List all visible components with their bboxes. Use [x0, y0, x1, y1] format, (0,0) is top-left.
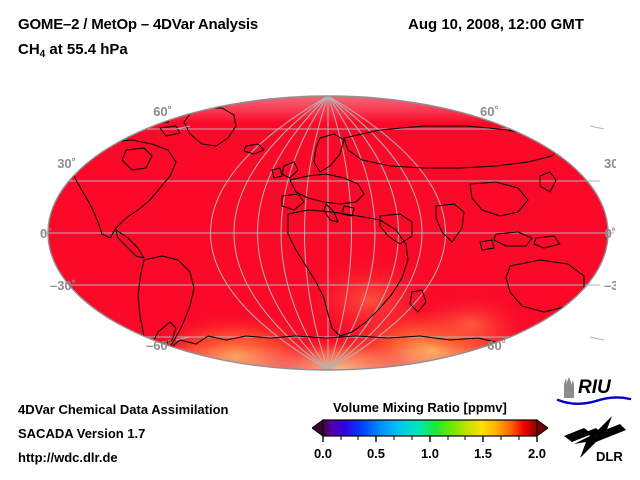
footer-line-version: SACADA Version 1.7: [18, 426, 145, 441]
riu-logo: RIU: [556, 376, 632, 406]
colorbar-tick-1: 0.5: [367, 446, 385, 461]
colorbar-title: Volume Mixing Ratio [ppmv]: [333, 400, 507, 415]
lat-label-right-30: 30˚: [604, 156, 616, 171]
colorbar-tick-4: 2.0: [528, 446, 546, 461]
lat-label-left-30: 30˚: [57, 156, 76, 171]
dlr-wordmark: DLR: [596, 449, 623, 464]
footer-line-assimilation: 4DVar Chemical Data Assimilation: [18, 402, 229, 417]
species-subtitle: CH4 at 55.4 hPa: [18, 41, 128, 58]
colorbar-tick-0: 0.0: [314, 446, 332, 461]
riu-wave-icon: [558, 397, 630, 403]
colorbar-gradient: [323, 420, 537, 436]
lat-label-left-m30: –30˚: [50, 278, 76, 293]
page-title: GOME–2 / MetOp – 4DVar Analysis: [18, 16, 258, 33]
footer-line-url[interactable]: http://wdc.dlr.de: [18, 450, 118, 465]
colorbar-tick-3: 1.5: [474, 446, 492, 461]
lat-label-right-m60: –60˚: [480, 338, 506, 353]
dlr-logo: DLR: [558, 412, 632, 464]
colorbar-ticks: [323, 436, 537, 442]
map-panel: 60˚ 30˚ 0˚ –30˚ –60˚ 60˚ 30˚ 0˚ –30˚ –60…: [40, 88, 616, 380]
colorbar-svg: 0.0 0.5 1.0 1.5 2.0: [312, 417, 548, 463]
colorbar: 0.0 0.5 1.0 1.5 2.0: [312, 417, 548, 463]
timestamp-label: Aug 10, 2008, 12:00 GMT: [408, 16, 584, 33]
riu-wordmark: RIU: [578, 377, 612, 398]
colorbar-extend-left: [312, 420, 323, 436]
lat-label-left-60: 60˚: [153, 104, 172, 119]
lat-label-right-60: 60˚: [480, 104, 499, 119]
riu-tower-icon: [564, 377, 574, 398]
colorbar-extend-right: [537, 420, 548, 436]
lat-label-left-m60: –60˚: [146, 338, 172, 353]
world-map-svg: 60˚ 30˚ 0˚ –30˚ –60˚ 60˚ 30˚ 0˚ –30˚ –60…: [40, 88, 616, 380]
riu-logo-svg: RIU: [556, 376, 632, 406]
species-level: at 55.4 hPa: [45, 41, 128, 58]
lat-label-right-0: 0˚: [604, 226, 616, 241]
species-subscript: 4: [40, 49, 46, 60]
species-name: CH: [18, 41, 40, 58]
colorbar-tick-2: 1.0: [421, 446, 439, 461]
lat-label-left-0: 0˚: [40, 226, 52, 241]
lat-label-right-m30: –30˚: [604, 278, 616, 293]
dlr-logo-svg: DLR: [558, 412, 632, 464]
